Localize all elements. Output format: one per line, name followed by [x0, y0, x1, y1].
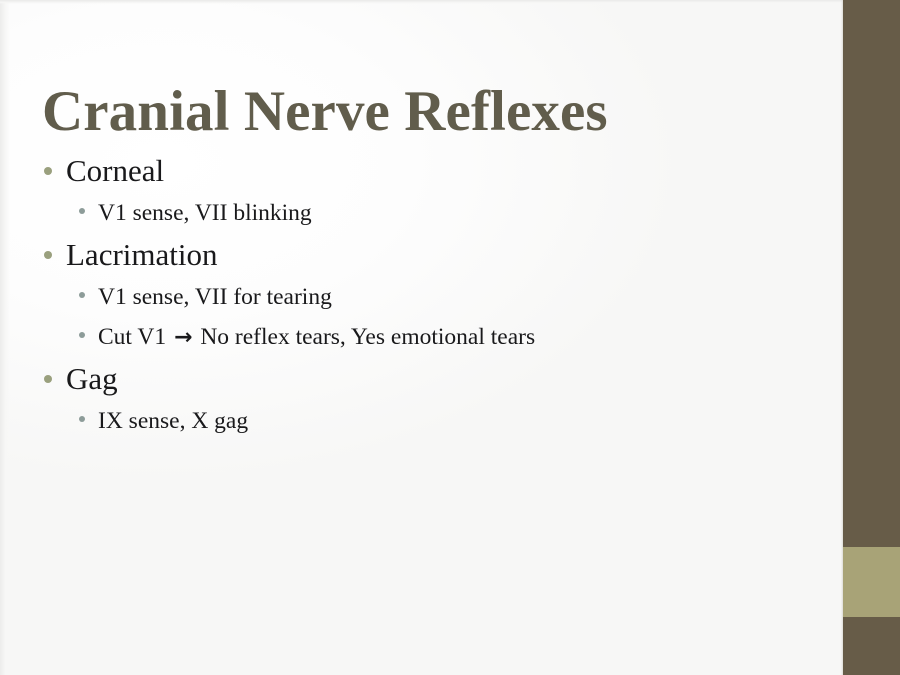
sub-bullet-label: IX sense, X gag	[98, 402, 248, 441]
presentation-slide: Cranial Nerve Reflexes Corneal V1 sense,…	[0, 0, 900, 675]
bullet-dot-icon	[79, 292, 85, 298]
bullet-item-corneal: Corneal	[0, 150, 820, 192]
right-arrow-icon: →	[172, 325, 194, 350]
slide-body: Corneal V1 sense, VII blinking Lacrimati…	[0, 150, 820, 442]
bullet-label: Gag	[66, 358, 118, 400]
sub-bullet-item-cut-v1: Cut V1 → No reflex tears, Yes emotional …	[0, 318, 820, 357]
sidebar-bar-top	[843, 0, 900, 547]
bullet-dot-icon	[79, 416, 85, 422]
sub-bullet-label: Cut V1 → No reflex tears, Yes emotional …	[98, 318, 535, 357]
sidebar-bar-bottom	[843, 617, 900, 675]
bullet-item-gag: Gag	[0, 358, 820, 400]
bullet-label: Lacrimation	[66, 234, 218, 276]
sub-bullet-item-gag-detail: IX sense, X gag	[0, 402, 820, 441]
bullet-dot-icon	[79, 208, 85, 214]
decorative-sidebar	[843, 0, 900, 675]
bullet-dot-icon	[44, 251, 52, 259]
bullet-dot-icon	[79, 332, 85, 338]
sidebar-bar-accent	[843, 547, 900, 617]
bullet-item-lacrimation: Lacrimation	[0, 234, 820, 276]
sub-bullet-text-before-arrow: Cut V1	[98, 324, 172, 350]
sub-bullet-item-lacrimation-detail: V1 sense, VII for tearing	[0, 278, 820, 317]
sub-bullet-label: V1 sense, VII for tearing	[98, 278, 332, 317]
bullet-dot-icon	[44, 167, 52, 175]
scan-edge-top	[0, 0, 843, 4]
bullet-label: Corneal	[66, 150, 164, 192]
bullet-dot-icon	[44, 375, 52, 383]
sub-bullet-label: V1 sense, VII blinking	[98, 194, 312, 233]
sub-bullet-text-after-arrow: No reflex tears, Yes emotional tears	[194, 324, 535, 350]
scan-speck-artifact	[190, 106, 192, 109]
slide-title: Cranial Nerve Reflexes	[42, 82, 802, 142]
sub-bullet-item-corneal-detail: V1 sense, VII blinking	[0, 194, 820, 233]
